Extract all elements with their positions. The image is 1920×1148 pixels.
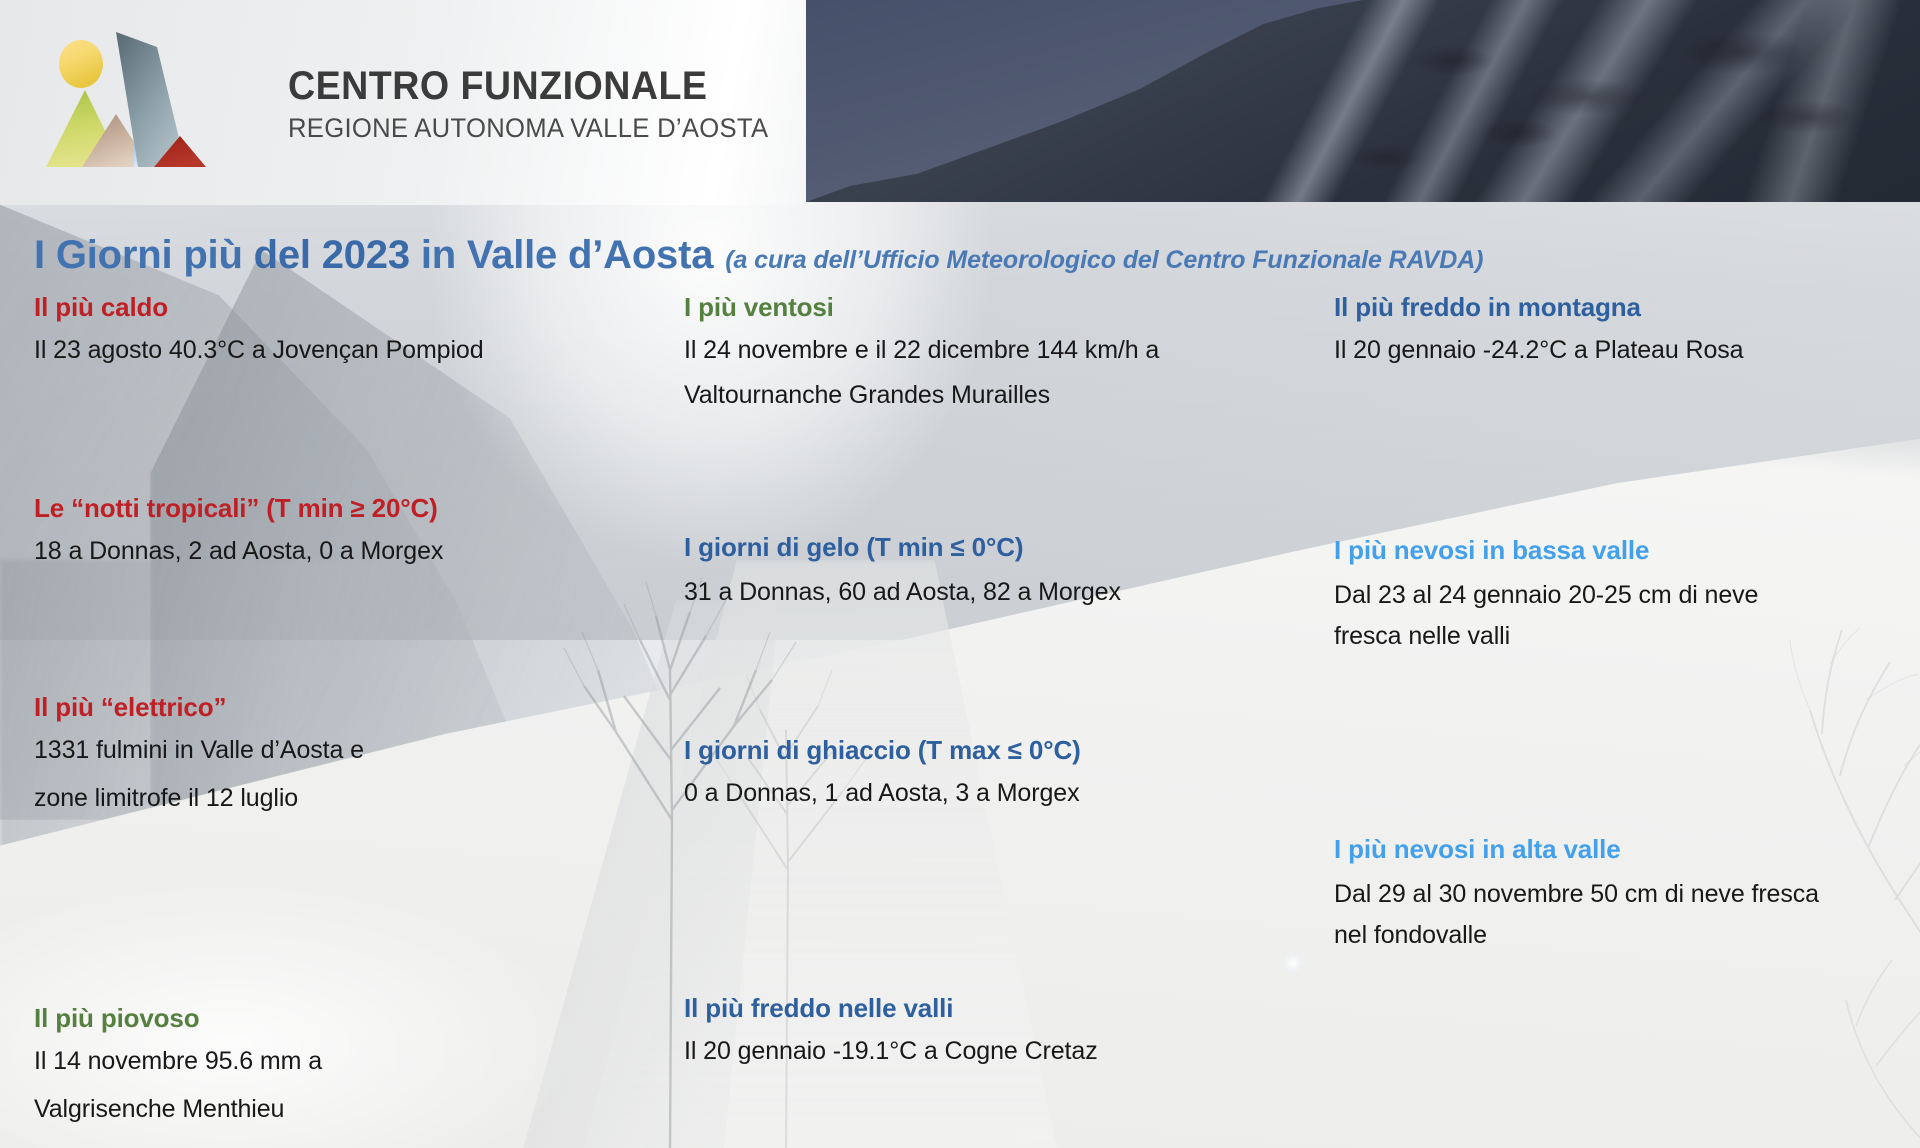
- page-subtitle: (a cura dell’Ufficio Meteorologico del C…: [725, 246, 1483, 275]
- stat-heading: Il più piovoso: [34, 1003, 654, 1034]
- stat-line: 0 a Donnas, 1 ad Aosta, 3 a Morgex: [684, 776, 1324, 812]
- brand-text: CENTRO FUNZIONALE REGIONE AUTONOMA VALLE…: [288, 66, 794, 142]
- stat-heading: I giorni di ghiaccio (T max ≤ 0°C): [684, 735, 1324, 766]
- stat-line: 18 a Donnas, 2 ad Aosta, 0 a Morgex: [34, 534, 654, 570]
- stat-heading: Il più “elettrico”: [34, 692, 654, 723]
- stat-line: Il 23 agosto 40.3°C a Jovençan Pompiod: [34, 333, 654, 369]
- stat-line: 31 a Donnas, 60 ad Aosta, 82 a Morgex: [684, 575, 1324, 611]
- stat-heading: Il più caldo: [34, 292, 654, 323]
- page-title-part2: del 2023: [254, 233, 410, 277]
- stat-block-il-piu-piovoso: Il più piovoso Il 14 novembre 95.6 mm a …: [34, 1003, 654, 1128]
- poster-root: CENTRO FUNZIONALE REGIONE AUTONOMA VALLE…: [0, 0, 1920, 1148]
- stat-heading: I più nevosi in alta valle: [1334, 834, 1920, 865]
- stat-block-i-piu-nevosi-in-alta-valle: I più nevosi in alta valle Dal 29 al 30 …: [1334, 834, 1920, 954]
- stat-block-notti-tropicali: Le “notti tropicali” (T min ≥ 20°C) 18 a…: [34, 493, 654, 569]
- stat-block-il-piu-caldo: Il più caldo Il 23 agosto 40.3°C a Joven…: [34, 292, 654, 368]
- stat-line: Il 14 novembre 95.6 mm a: [34, 1044, 654, 1080]
- page-title-part1: I Giorni più: [34, 233, 254, 277]
- stat-line: Dal 29 al 30 novembre 50 cm di neve fres…: [1334, 877, 1920, 913]
- page-title-main: I Giorni più del 2023 in Valle d’Aosta: [34, 233, 713, 278]
- cf-valle-daosta-logo-icon: [38, 24, 253, 174]
- stat-heading: Il più freddo nelle valli: [684, 993, 1324, 1024]
- stat-line: nel fondovalle: [1334, 918, 1920, 954]
- stat-block-il-piu-freddo-nelle-valli: Il più freddo nelle valli Il 20 gennaio …: [684, 993, 1324, 1069]
- stat-line: Il 24 novembre e il 22 dicembre 144 km/h…: [684, 333, 1324, 369]
- stat-line: fresca nelle valli: [1334, 619, 1914, 655]
- stat-line: Valgrisenche Menthieu: [34, 1092, 654, 1128]
- stat-line: Il 20 gennaio -24.2°C a Plateau Rosa: [1334, 333, 1914, 369]
- stat-block-il-piu-elettrico: Il più “elettrico” 1331 fulmini in Valle…: [34, 692, 654, 817]
- stat-heading: I più ventosi: [684, 292, 1324, 323]
- lens-flare-dot: [1282, 952, 1304, 974]
- stat-line: Dal 23 al 24 gennaio 20-25 cm di neve: [1334, 578, 1914, 614]
- stat-heading: Le “notti tropicali” (T min ≥ 20°C): [34, 493, 654, 524]
- brand-line-1: CENTRO FUNZIONALE: [288, 66, 763, 106]
- stat-block-i-piu-nevosi-in-bassa-valle: I più nevosi in bassa valle Dal 23 al 24…: [1334, 535, 1914, 655]
- stat-heading: I giorni di gelo (T min ≤ 0°C): [684, 532, 1324, 563]
- bare-branch-icon: [1770, 930, 1920, 1148]
- stat-line: zone limitrofe il 12 luglio: [34, 781, 654, 817]
- header-mountain-photo: [806, 0, 1920, 202]
- stat-heading: Il più freddo in montagna: [1334, 292, 1914, 323]
- stat-heading: I più nevosi in bassa valle: [1334, 535, 1914, 566]
- stat-line: Il 20 gennaio -19.1°C a Cogne Cretaz: [684, 1034, 1324, 1070]
- stat-line: Valtournanche Grandes Murailles: [684, 378, 1324, 414]
- header-banner: CENTRO FUNZIONALE REGIONE AUTONOMA VALLE…: [0, 0, 1920, 205]
- stat-block-i-piu-ventosi: I più ventosi Il 24 novembre e il 22 dic…: [684, 292, 1324, 414]
- page-title-part3: in Valle d’Aosta: [410, 233, 713, 277]
- stat-block-giorni-di-ghiaccio: I giorni di ghiaccio (T max ≤ 0°C) 0 a D…: [684, 735, 1324, 811]
- brand-line-2: REGIONE AUTONOMA VALLE D’AOSTA: [288, 115, 768, 142]
- stat-block-il-piu-freddo-in-montagna: Il più freddo in montagna Il 20 gennaio …: [1334, 292, 1914, 368]
- stat-block-giorni-di-gelo: I giorni di gelo (T min ≤ 0°C) 31 a Donn…: [684, 532, 1324, 610]
- stat-line: 1331 fulmini in Valle d’Aosta e: [34, 733, 654, 769]
- page-title: I Giorni più del 2023 in Valle d’Aosta (…: [34, 233, 1483, 278]
